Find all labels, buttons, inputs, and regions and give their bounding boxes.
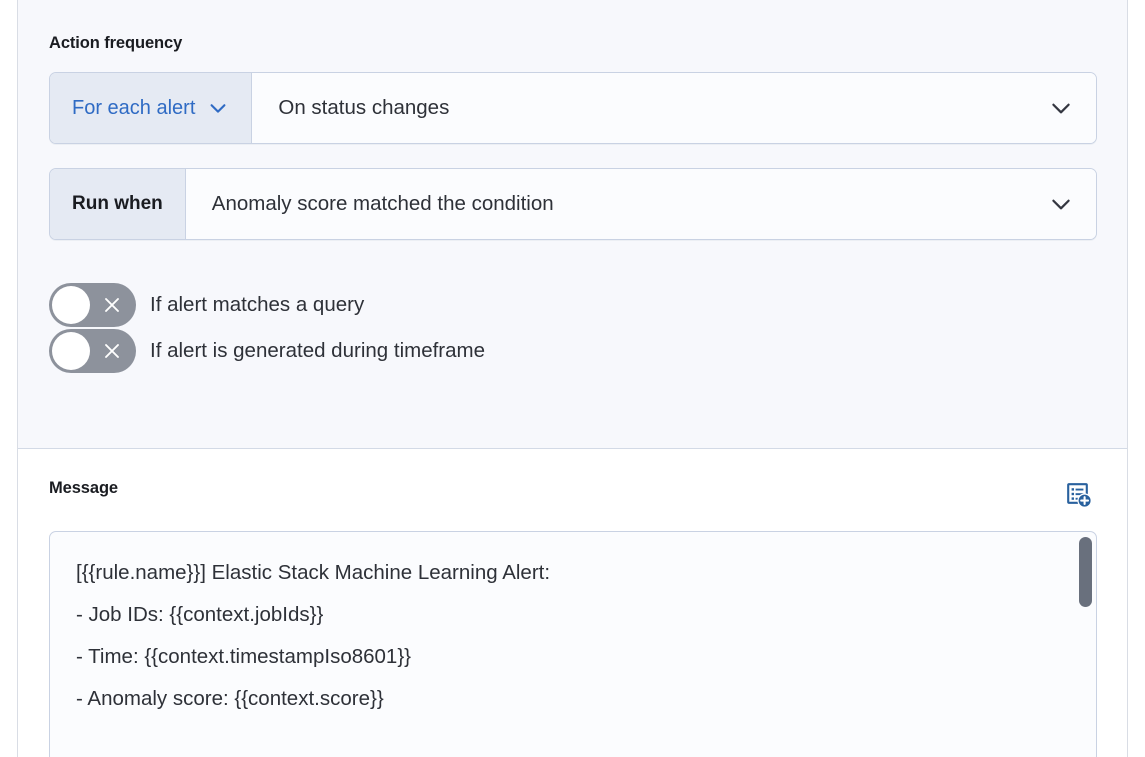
chevron-down-icon [207,97,229,119]
screen: Action frequency For each alert On statu… [0,0,1145,757]
toggle-label-alert-matches-query: If alert matches a query [150,293,364,317]
cross-icon [102,341,122,361]
message-title: Message [49,479,118,498]
message-textarea[interactable]: [{{rule.name}}] Elastic Stack Machine Le… [49,531,1097,757]
message-section: Message [18,449,1127,757]
message-line: [{{rule.name}}] Elastic Stack Machine Le… [76,552,1070,594]
condition-toggles: If alert matches a query If alert is gen… [49,282,1096,374]
notify-when-value: On status changes [278,96,449,120]
notify-when-select[interactable]: On status changes [252,73,1096,143]
toggle-row-alert-matches-query: If alert matches a query [49,282,1096,328]
run-when-value: Anomaly score matched the condition [212,192,554,216]
message-line: - Anomaly score: {{context.score}} [76,678,1070,720]
message-header: Message [49,479,1096,513]
run-when-label-block: Run when [50,169,186,239]
run-when-row: Run when Anomaly score matched the condi… [49,168,1097,240]
run-when-select[interactable]: Anomaly score matched the condition [186,169,1096,239]
cross-icon [102,295,122,315]
chevron-down-icon [1048,191,1074,217]
message-scrollbar-thumb[interactable] [1079,537,1092,607]
add-variable-button[interactable] [1062,479,1096,513]
add-variable-icon [1065,481,1093,512]
toggle-knob [52,332,90,370]
toggle-knob [52,286,90,324]
message-line: - Job IDs: {{context.jobIds}} [76,594,1070,636]
chevron-down-icon [1048,95,1074,121]
toggle-alert-timeframe[interactable] [49,329,136,373]
toggle-label-alert-timeframe: If alert is generated during timeframe [150,339,485,363]
run-when-label: Run when [72,193,163,215]
toggle-alert-matches-query[interactable] [49,283,136,327]
message-scrollbar[interactable] [1078,537,1092,757]
for-each-alert-label: For each alert [72,97,195,120]
action-flyout-panel: Action frequency For each alert On statu… [17,0,1128,757]
action-frequency-title: Action frequency [49,34,1096,53]
action-frequency-summary-row: For each alert On status changes [49,72,1097,144]
for-each-alert-dropdown[interactable]: For each alert [50,73,252,143]
action-frequency-section: Action frequency For each alert On statu… [18,0,1127,449]
message-line: - Time: {{context.timestampIso8601}} [76,636,1070,678]
toggle-row-alert-timeframe: If alert is generated during timeframe [49,328,1096,374]
